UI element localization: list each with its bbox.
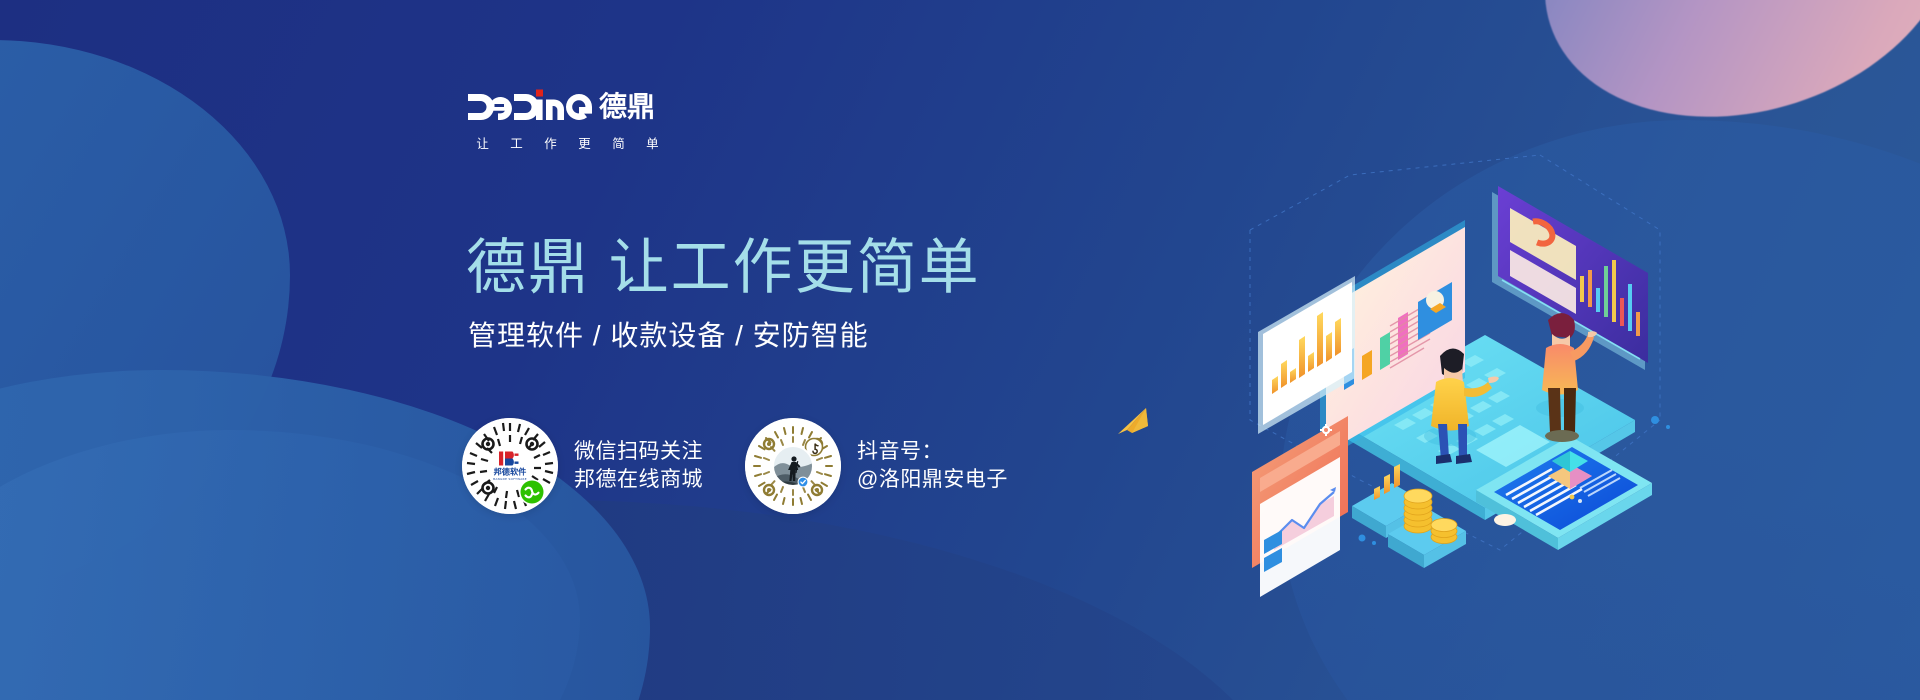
- person-leg-left: [1548, 388, 1561, 433]
- brand-logo[interactable]: 德鼎 让 工 作 更 简 单: [468, 78, 668, 152]
- douyin-qr-icon[interactable]: [745, 418, 841, 514]
- isometric-business-analytics-illustration: [1240, 120, 1680, 570]
- orange-analytics-card: [1252, 416, 1348, 597]
- coin-stack-short: [1431, 519, 1457, 544]
- person-leg-right: [1458, 424, 1467, 460]
- logo-row: 德鼎: [468, 78, 668, 124]
- promo-banner: 德鼎 让 工 作 更 简 单 德鼎 让工作更简单 管理软件 / 收款设备 / 安…: [0, 0, 1920, 700]
- person-leg-right: [1564, 388, 1576, 433]
- qr-item-douyin[interactable]: 抖音号： @洛阳鼎安电子: [745, 418, 1008, 514]
- douyin-caption-line-2: @洛阳鼎安电子: [857, 466, 1008, 494]
- qr-item-wechat[interactable]: 邦德软件 BANGDE SOFTWARE 微信扫码关注 邦德在线商城: [462, 418, 703, 514]
- douyin-qr-caption: 抖音号： @洛阳鼎安电子: [857, 438, 1008, 493]
- hero-subheadline: 管理软件 / 收款设备 / 安防智能: [468, 322, 869, 350]
- person-shoes: [1545, 430, 1579, 442]
- tablet-home-button: [1494, 514, 1516, 526]
- douyin-verified-badge-icon: [798, 477, 809, 488]
- svg-text:BANGDE SOFTWARE: BANGDE SOFTWARE: [493, 477, 527, 481]
- qr-code-row: 邦德软件 BANGDE SOFTWARE 微信扫码关注 邦德在线商城: [462, 418, 1008, 514]
- logo-chinese-name: 德鼎: [599, 93, 655, 121]
- wechat-qr-caption: 微信扫码关注 邦德在线商城: [574, 438, 703, 493]
- wechat-caption-line-2: 邦德在线商城: [574, 466, 703, 494]
- svg-text:邦德软件: 邦德软件: [494, 467, 527, 477]
- wechat-miniprogram-qr-icon[interactable]: 邦德软件 BANGDE SOFTWARE: [462, 418, 558, 514]
- hero-headline: 德鼎 让工作更简单: [466, 238, 981, 298]
- wechat-miniprogram-badge-icon: [519, 479, 545, 505]
- red-square-dot-icon: [536, 90, 543, 97]
- logo-tagline: 让 工 作 更 简 单: [468, 133, 668, 152]
- person-arm-raised: [1570, 334, 1594, 361]
- person-shirt: [1431, 378, 1469, 431]
- wechat-caption-line-1: 微信扫码关注: [574, 438, 703, 466]
- douyin-caption-line-1: 抖音号：: [857, 438, 1008, 466]
- coin-stack-tall: [1404, 489, 1432, 533]
- deding-wordmark-icon: [468, 84, 592, 124]
- paper-plane-icon: [1112, 400, 1158, 446]
